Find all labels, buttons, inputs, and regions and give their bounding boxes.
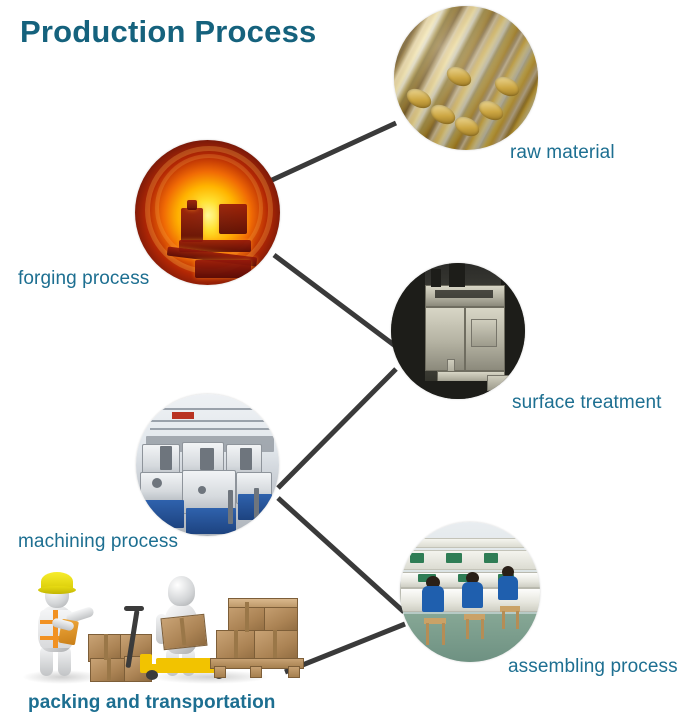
packing-and-transportation-label: packing and transportation [28,692,276,714]
assembling-process-label: assembling process [508,656,678,678]
raw-material-label: raw material [510,142,615,164]
forging-process-label: forging process [18,268,149,290]
worker-torso [422,586,444,612]
connector-forging-raw-material [272,123,396,180]
worker-torso [498,576,518,600]
machining-process-label: machining process [18,531,178,553]
assembling-process-photo [400,522,540,662]
connector-forging-surface-treatment [274,255,398,348]
production-process-diagram: Production Process raw material [0,0,680,725]
machining-process-photo [136,394,279,536]
hard-hat-brim [38,586,76,594]
worker-torso [462,582,483,608]
forging-process-photo [135,140,280,285]
raw-material-photo [394,6,538,150]
node-packing-and-transportation[interactable] [0,558,300,688]
surface-treatment-photo [391,263,525,399]
surface-treatment-label: surface treatment [512,392,662,414]
connector-machining-surface-treatment [278,369,396,488]
